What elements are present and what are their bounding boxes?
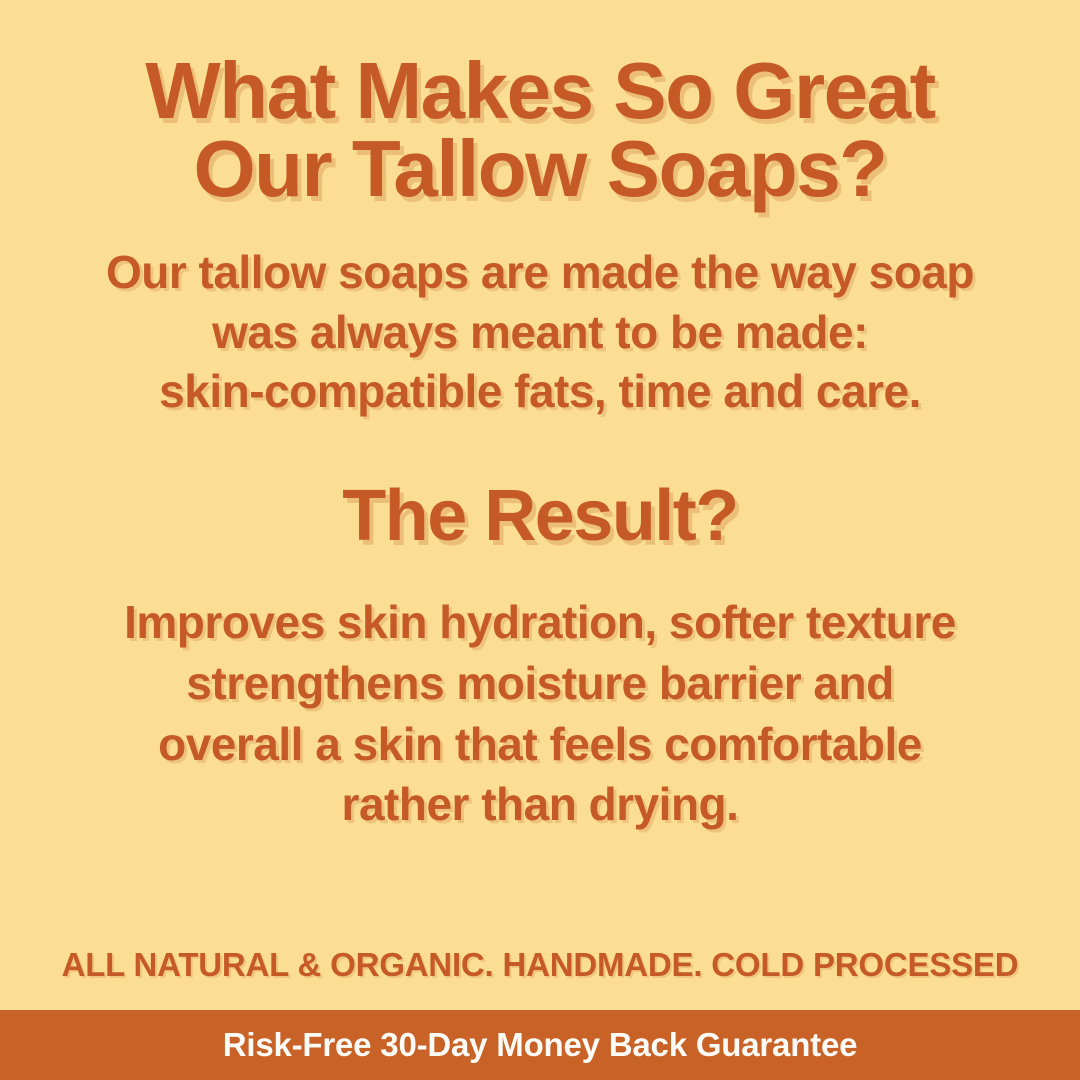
lead-paragraph-line-2: was always meant to be made: xyxy=(60,303,1020,363)
headline-line-1: What Makes So Great xyxy=(40,52,1040,130)
guarantee-banner: Risk-Free 30-Day Money Back Guarantee xyxy=(0,1010,1080,1080)
guarantee-banner-text: Risk-Free 30-Day Money Back Guarantee xyxy=(223,1026,858,1064)
lead-paragraph-line-1: Our tallow soaps are made the way soap xyxy=(60,243,1020,303)
lead-paragraph-line-3: skin-compatible fats, time and care. xyxy=(60,362,1020,422)
section-subheading: The Result? xyxy=(342,480,738,552)
page-title: What Makes So Great Our Tallow Soaps? xyxy=(40,52,1040,209)
content-area: What Makes So Great Our Tallow Soaps? Ou… xyxy=(0,0,1080,946)
result-paragraph-line-3: overall a skin that feels comfortable xyxy=(50,714,1030,775)
result-paragraph-line-1: Improves skin hydration, softer texture xyxy=(50,592,1030,653)
result-paragraph: Improves skin hydration, softer texture … xyxy=(50,592,1030,835)
lead-paragraph: Our tallow soaps are made the way soap w… xyxy=(60,243,1020,422)
result-paragraph-line-4: rather than drying. xyxy=(50,774,1030,835)
headline-line-2: Our Tallow Soaps? xyxy=(40,130,1040,208)
promo-card: What Makes So Great Our Tallow Soaps? Ou… xyxy=(0,0,1080,1080)
result-paragraph-line-2: strengthens moisture barrier and xyxy=(50,653,1030,714)
product-claims-tagline: ALL NATURAL & ORGANIC. HANDMADE. COLD PR… xyxy=(20,946,1060,984)
